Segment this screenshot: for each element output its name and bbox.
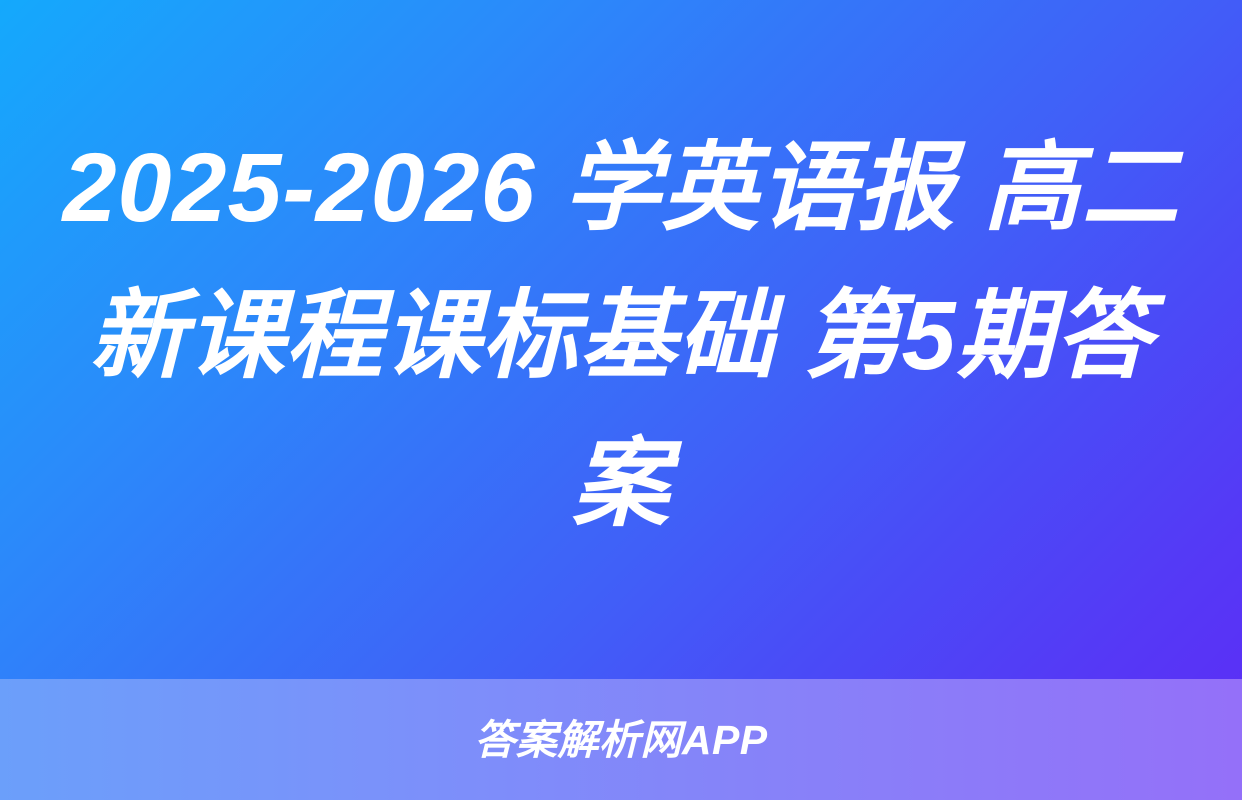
watermark-band: 答案解析网APP <box>0 679 1242 800</box>
answer-banner: 2025-2026 学英语报 高二 新课程课标基础 第5期答案 答案解析网APP <box>0 0 1242 800</box>
app-watermark-label: 答案解析网APP <box>474 720 767 761</box>
page-title: 2025-2026 学英语报 高二 新课程课标基础 第5期答案 <box>62 114 1180 558</box>
headline-area: 2025-2026 学英语报 高二 新课程课标基础 第5期答案 <box>0 0 1242 679</box>
